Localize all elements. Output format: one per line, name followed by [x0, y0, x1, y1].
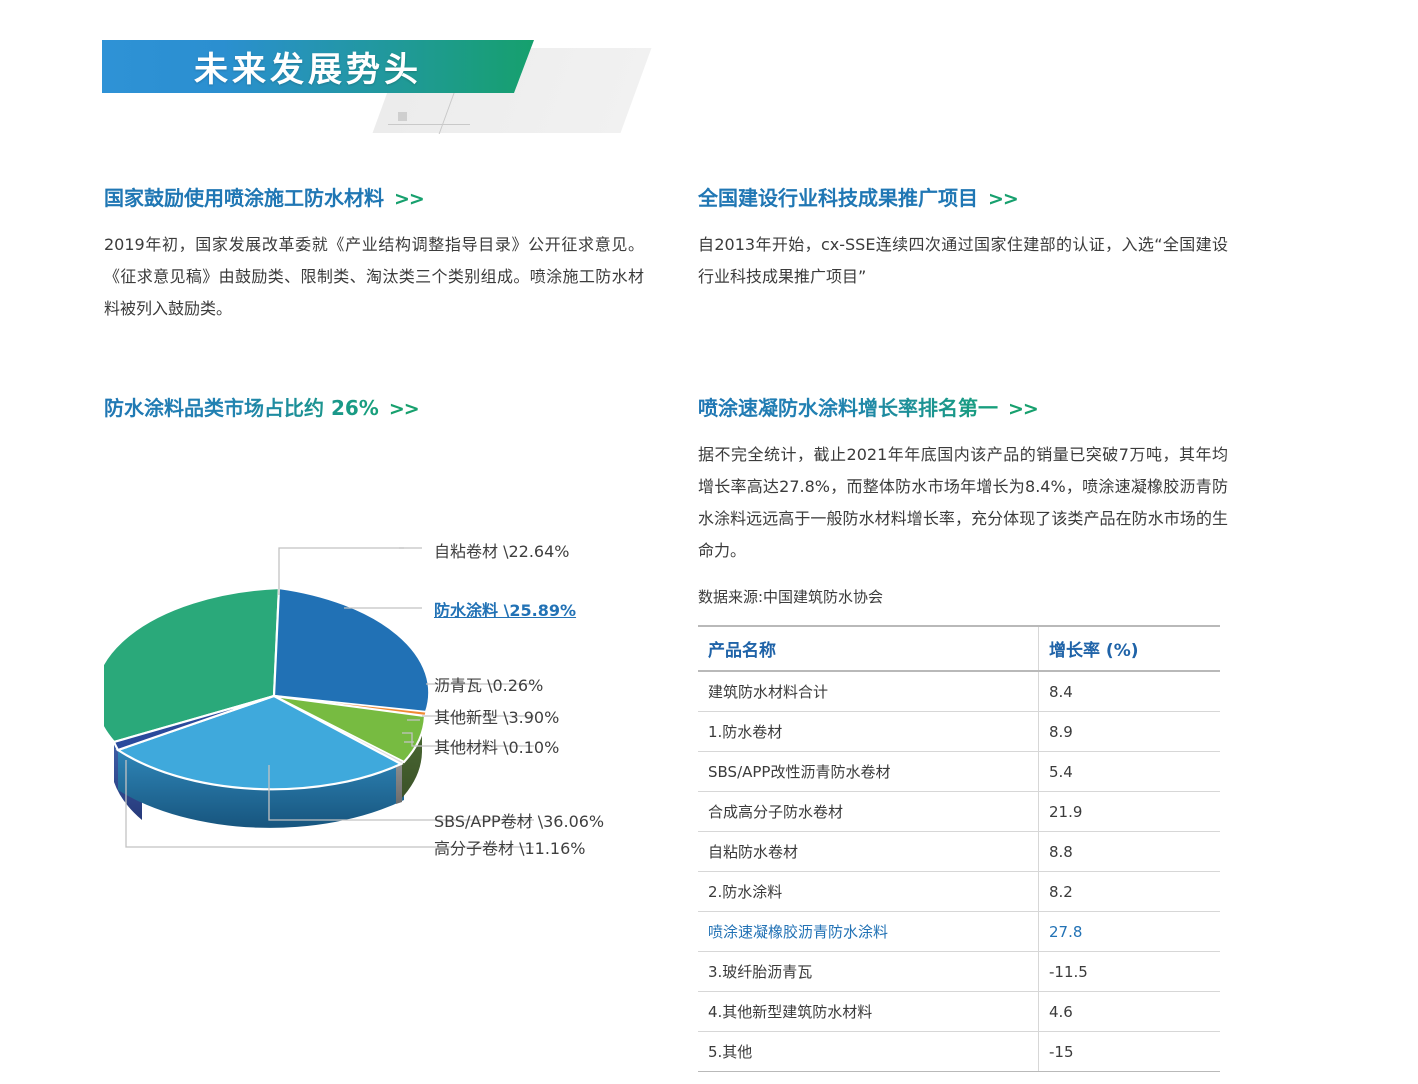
section-body-text: 自2013年开始，cx-SSE连续四次通过国家住建部的认证，入选“全国建设行业科…: [698, 229, 1228, 293]
section-market-share: 防水涂料品类市场占比约 26%>>: [104, 392, 644, 439]
section-heading-text: 国家鼓励使用喷涂施工防水材料: [104, 186, 384, 210]
table-row: 合成高分子防水卷材21.9: [698, 792, 1220, 832]
cell-product-name: 喷涂速凝橡胶沥青防水涂料: [698, 912, 1039, 952]
table-row: 2.防水涂料8.2: [698, 872, 1220, 912]
section-heading: 防水涂料品类市场占比约 26%>>: [104, 392, 644, 421]
pie-label-waterproof-coating: 防水涂料 \25.89%: [434, 597, 576, 621]
pie-slice-waterproof-coating: [274, 588, 429, 712]
section-heading-text: 防水涂料品类市场占比约 26%: [104, 396, 379, 420]
cell-growth-rate: 21.9: [1039, 792, 1221, 832]
section-heading-text: 全国建设行业科技成果推广项目: [698, 186, 978, 210]
section-body-text: 2019年初，国家发展改革委就《产业结构调整指导目录》公开征求意见。《征求意见稿…: [104, 229, 644, 325]
section-national-encouragement: 国家鼓励使用喷涂施工防水材料>> 2019年初，国家发展改革委就《产业结构调整指…: [104, 182, 644, 325]
pie-label-polymer: 高分子卷材 \11.16%: [434, 835, 586, 859]
cell-product-name: 3.玻纤胎沥青瓦: [698, 952, 1039, 992]
cell-product-name: SBS/APP改性沥青防水卷材: [698, 752, 1039, 792]
table-row: SBS/APP改性沥青防水卷材5.4: [698, 752, 1220, 792]
cell-product-name: 建筑防水材料合计: [698, 671, 1039, 712]
growth-rate-table: 产品名称 增长率 (%) 建筑防水材料合计8.41.防水卷材8.9SBS/APP…: [698, 625, 1220, 1072]
cell-product-name: 合成高分子防水卷材: [698, 792, 1039, 832]
table-row: 5.其他-15: [698, 1032, 1220, 1072]
section-growth-rate-rank: 喷涂速凝防水涂料增长率排名第一>> 据不完全统计，截止2021年年底国内该产品的…: [698, 392, 1228, 567]
table-row: 建筑防水材料合计8.4: [698, 671, 1220, 712]
pie-label-asphalt-shingle: 沥青瓦 \0.26%: [434, 672, 543, 696]
cell-growth-rate: 8.9: [1039, 712, 1221, 752]
table-row: 1.防水卷材8.9: [698, 712, 1220, 752]
table-row: 3.玻纤胎沥青瓦-11.5: [698, 952, 1220, 992]
cell-growth-rate: -11.5: [1039, 952, 1221, 992]
table-row: 4.其他新型建筑防水材料4.6: [698, 992, 1220, 1032]
pie-slices: [104, 560, 429, 789]
section-heading: 全国建设行业科技成果推广项目>>: [698, 182, 1228, 211]
chevron-right-icon[interactable]: >>: [389, 398, 419, 420]
pie-side-wall-other-material: [396, 762, 402, 804]
cell-growth-rate: 4.6: [1039, 992, 1221, 1032]
page-title: 未来发展势头: [102, 40, 514, 93]
section-national-promotion-project: 全国建设行业科技成果推广项目>> 自2013年开始，cx-SSE连续四次通过国家…: [698, 182, 1228, 293]
cell-product-name: 2.防水涂料: [698, 872, 1039, 912]
banner-grey-square-marker: [398, 112, 407, 121]
cell-growth-rate: 27.8: [1039, 912, 1221, 952]
cell-product-name: 自粘防水卷材: [698, 832, 1039, 872]
table-body: 建筑防水材料合计8.41.防水卷材8.9SBS/APP改性沥青防水卷材5.4合成…: [698, 671, 1220, 1072]
cell-product-name: 4.其他新型建筑防水材料: [698, 992, 1039, 1032]
cell-product-name: 1.防水卷材: [698, 712, 1039, 752]
table-row: 自粘防水卷材8.8: [698, 832, 1220, 872]
column-header-growth-rate: 增长率 (%): [1039, 626, 1221, 671]
cell-growth-rate: 8.8: [1039, 832, 1221, 872]
market-share-pie-chart: 自粘卷材 \22.64% 防水涂料 \25.89% 沥青瓦 \0.26% 其他新…: [104, 520, 664, 890]
cell-growth-rate: 8.4: [1039, 671, 1221, 712]
page-banner: 未来发展势头: [0, 0, 1418, 160]
cell-product-name: 5.其他: [698, 1032, 1039, 1072]
chevron-right-icon[interactable]: >>: [394, 188, 424, 210]
chevron-right-icon[interactable]: >>: [988, 188, 1018, 210]
cell-growth-rate: 8.2: [1039, 872, 1221, 912]
banner-grey-horizontal-line: [388, 124, 470, 125]
section-heading: 喷涂速凝防水涂料增长率排名第一>>: [698, 392, 1228, 421]
cell-growth-rate: 5.4: [1039, 752, 1221, 792]
column-header-product-name: 产品名称: [698, 626, 1039, 671]
table-header-row: 产品名称 增长率 (%): [698, 626, 1220, 671]
pie-label-other-material: 其他材料 \0.10%: [434, 734, 559, 758]
pie-label-sbs-app: SBS/APP卷材 \36.06%: [434, 808, 604, 832]
cell-growth-rate: -15: [1039, 1032, 1221, 1072]
pie-label-self-adhesive: 自粘卷材 \22.64%: [434, 538, 570, 562]
chevron-right-icon[interactable]: >>: [1008, 398, 1038, 420]
section-heading: 国家鼓励使用喷涂施工防水材料>>: [104, 182, 644, 211]
table-row: 喷涂速凝橡胶沥青防水涂料27.8: [698, 912, 1220, 952]
pie-label-other-new: 其他新型 \3.90%: [434, 704, 559, 728]
section-heading-text: 喷涂速凝防水涂料增长率排名第一: [698, 396, 998, 420]
data-source-note: 数据来源:中国建筑防水协会: [698, 586, 883, 607]
section-body-text: 据不完全统计，截止2021年年底国内该产品的销量已突破7万吨，其年均增长率高达2…: [698, 439, 1228, 567]
